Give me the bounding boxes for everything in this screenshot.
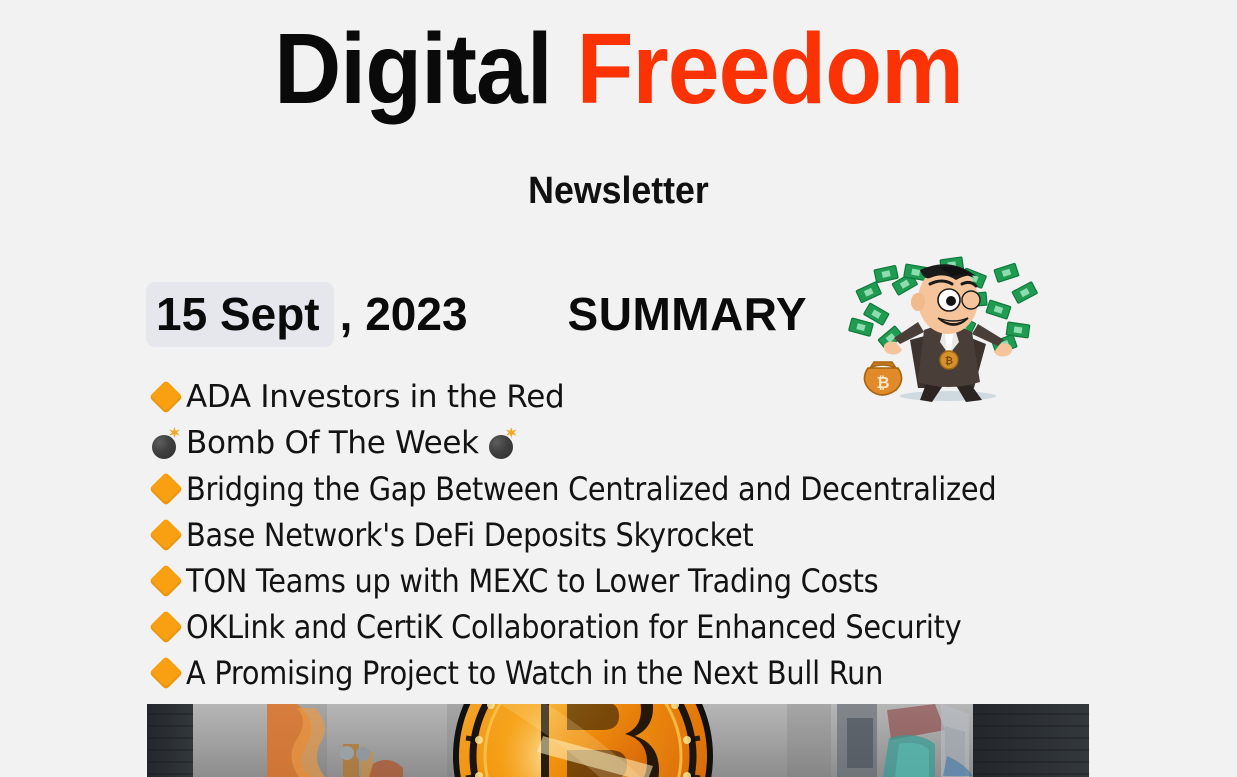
bitcoin-coin-graffiti-banner (147, 704, 1089, 777)
headline-text: ADA Investors in the Red (186, 382, 564, 413)
orange-diamond-icon (150, 564, 184, 598)
bitcoin-coin (453, 704, 713, 777)
summary-heading: SUMMARY (568, 291, 807, 337)
headline-text: Bomb Of The Week (186, 428, 479, 459)
title-word-freedom: Freedom (577, 13, 963, 125)
headline-text: Base Network's DeFi Deposits Skyrocket (186, 519, 753, 551)
issue-date-year: , 2023 (334, 291, 468, 337)
list-item[interactable]: OKLink and CertiK Collaboration for Enha… (150, 604, 1090, 650)
list-item[interactable]: Bomb Of The Week (150, 420, 1090, 466)
headline-text: Bridging the Gap Between Centralized and… (186, 473, 996, 505)
list-item[interactable]: Base Network's DeFi Deposits Skyrocket (150, 512, 1090, 558)
list-item[interactable]: A Promising Project to Watch in the Next… (150, 650, 1090, 696)
orange-diamond-icon (150, 380, 184, 414)
headline-text: A Promising Project to Watch in the Next… (186, 657, 883, 689)
issue-date-highlight: 15 Sept (146, 282, 334, 347)
bitcoin-money-bag: ₿ (864, 362, 901, 395)
page-subtitle: Newsletter (37, 170, 1200, 213)
man-throwing-money-cartoon: ₿ ₿ (848, 256, 1044, 411)
headline-text: OKLink and CertiK Collaboration for Enha… (186, 611, 961, 643)
issue-date: 15 Sept, 2023 (146, 282, 468, 347)
list-item[interactable]: TON Teams up with MEXC to Lower Trading … (150, 558, 1090, 604)
orange-diamond-icon (150, 610, 184, 644)
bomb-icon (487, 426, 521, 460)
list-item[interactable]: Bridging the Gap Between Centralized and… (150, 466, 1090, 512)
graffiti-right (837, 704, 973, 777)
title-word-digital: Digital (274, 13, 552, 125)
orange-diamond-icon (150, 472, 184, 506)
orange-diamond-icon (150, 656, 184, 690)
headline-text: TON Teams up with MEXC to Lower Trading … (186, 565, 878, 597)
bomb-icon (150, 426, 184, 460)
masthead: Digital Freedom Newsletter (0, 0, 1237, 213)
meta-row: 15 Sept, 2023 SUMMARY (146, 283, 807, 345)
summary-headline-list: ADA Investors in the Red Bomb Of The Wee… (150, 374, 1090, 696)
orange-diamond-icon (150, 518, 184, 552)
svg-text:₿: ₿ (945, 355, 953, 367)
page-title: Digital Freedom (43, 16, 1193, 122)
svg-text:₿: ₿ (876, 373, 889, 392)
